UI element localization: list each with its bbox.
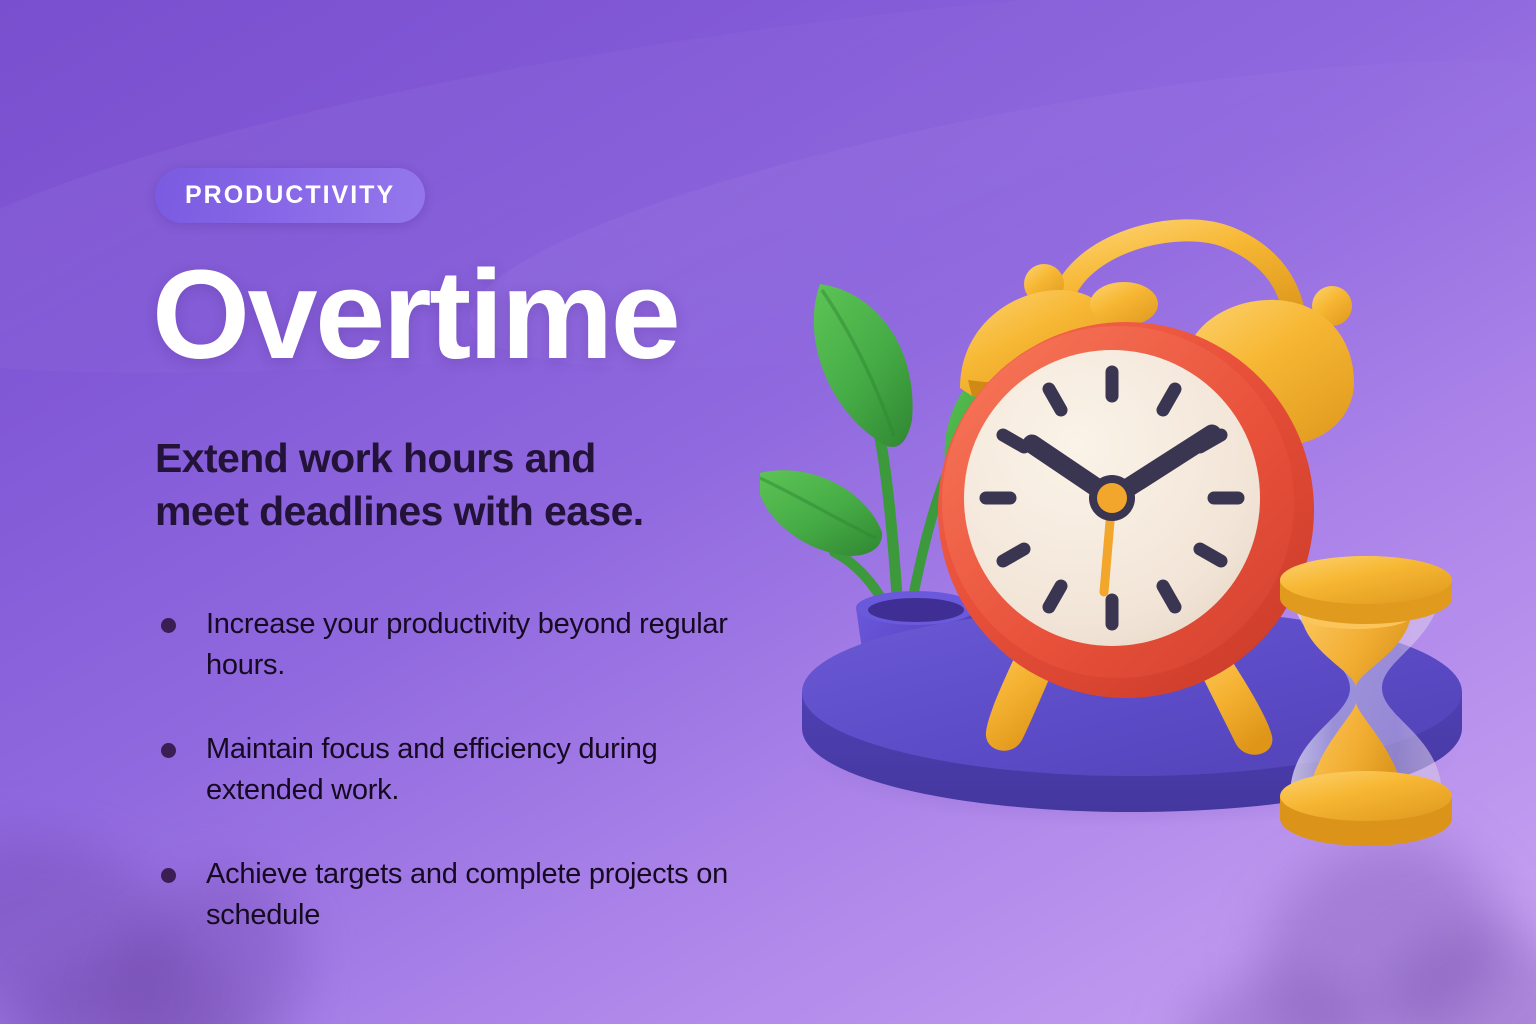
subtitle-line-1: Extend work hours and xyxy=(155,435,596,481)
text-column: PRODUCTIVITY Overtime Extend work hours … xyxy=(155,0,855,1024)
subtitle-line-2: meet deadlines with ease. xyxy=(155,488,644,534)
plant-stem xyxy=(880,438,898,610)
hero-illustration xyxy=(760,180,1520,880)
category-badge: PRODUCTIVITY xyxy=(155,168,425,223)
poster-canvas: PRODUCTIVITY Overtime Extend work hours … xyxy=(0,0,1536,1024)
plant-leaf xyxy=(814,284,913,447)
list-item: Achieve targets and complete projects on… xyxy=(158,854,758,936)
clock-button-top xyxy=(1090,282,1158,326)
clock-center-cap xyxy=(1097,483,1127,513)
plant-pot-soil xyxy=(868,598,964,622)
leaf-shadow-decoration xyxy=(1365,901,1536,1024)
list-item-label: Increase your productivity beyond regula… xyxy=(206,608,728,681)
plant-leaf xyxy=(760,470,882,556)
benefit-list: Increase your productivity beyond regula… xyxy=(158,604,758,936)
subtitle: Extend work hours and meet deadlines wit… xyxy=(155,432,795,538)
hourglass-cap-top-face xyxy=(1280,556,1452,604)
list-item-label: Achieve targets and complete projects on… xyxy=(206,858,728,931)
bullet-dot-icon xyxy=(161,743,176,758)
list-item-label: Maintain focus and efficiency during ext… xyxy=(206,733,658,806)
list-item: Increase your productivity beyond regula… xyxy=(158,604,758,686)
page-title: Overtime xyxy=(152,252,678,378)
bullet-dot-icon xyxy=(161,618,176,633)
list-item: Maintain focus and efficiency during ext… xyxy=(158,729,758,811)
hourglass-cap-bottom xyxy=(1280,771,1452,821)
bullet-dot-icon xyxy=(161,868,176,883)
leaf-shadow-decoration xyxy=(1174,965,1377,1024)
